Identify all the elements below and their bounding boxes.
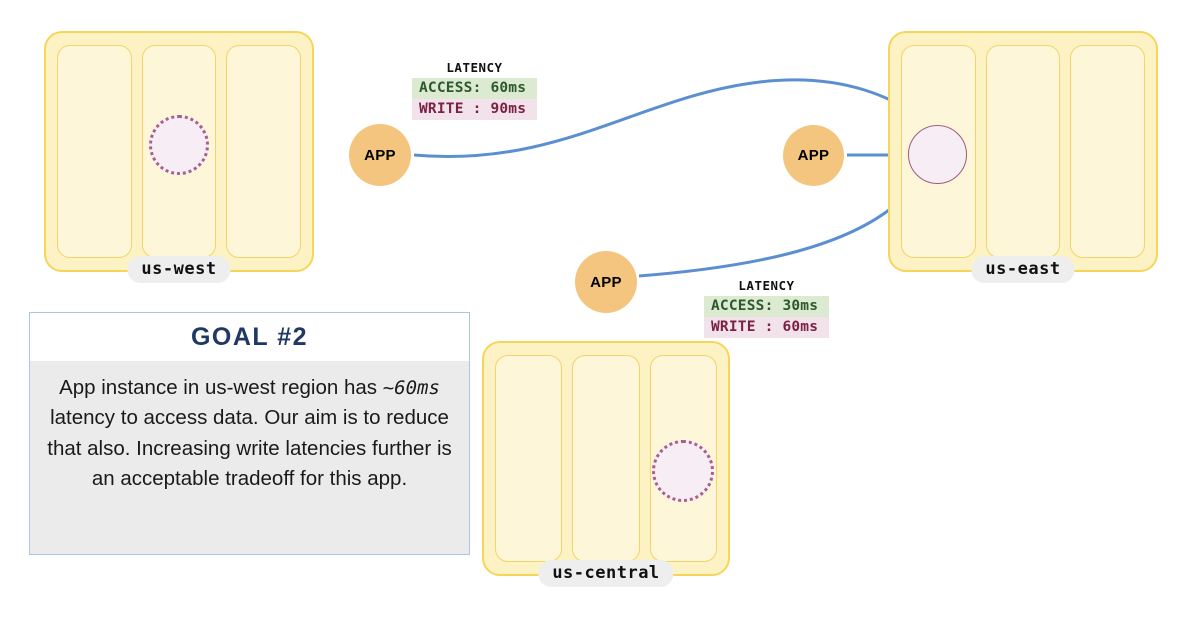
app-node-us-west-label: APP [364,147,396,164]
latency-box-us-central: LATENCY ACCESS: 30ms WRITE : 60ms [704,278,829,338]
region-us-west-column-1 [57,45,132,258]
region-us-central-column-1 [495,355,562,562]
region-us-east-column-3 [1070,45,1145,258]
data-replica-us-west[interactable] [149,115,209,175]
app-node-us-east[interactable]: APP [783,125,844,186]
region-us-west-column-2 [142,45,217,258]
latency-box-us-west: LATENCY ACCESS: 60ms WRITE : 90ms [412,60,537,120]
app-node-us-central-label: APP [590,274,622,291]
region-us-east-label: us-east [971,256,1074,283]
region-us-east-column-2 [986,45,1061,258]
region-us-west[interactable]: us-west [44,31,314,272]
app-node-us-west[interactable]: APP [349,124,411,186]
region-us-central-column-3 [650,355,717,562]
data-replica-us-central[interactable] [652,440,714,502]
goal-text-part2: latency to access data. Our aim is to re… [47,406,452,490]
latency-box-us-west-access: ACCESS: 60ms [412,78,537,99]
goal-card: GOAL #2 App instance in us-west region h… [29,312,470,555]
goal-text-emphasis: ~60ms [383,377,440,399]
goal-heading: GOAL #2 [30,313,469,361]
latency-box-us-central-title: LATENCY [704,278,829,293]
arrow-central-app-to-east-data [639,196,905,276]
app-node-us-central[interactable]: APP [575,251,637,313]
region-us-west-column-3 [226,45,301,258]
region-us-central[interactable]: us-central [482,341,730,576]
data-primary-us-east[interactable] [908,125,967,184]
region-us-central-column-2 [572,355,639,562]
latency-box-us-central-write: WRITE : 60ms [704,317,829,338]
latency-box-us-west-title: LATENCY [412,60,537,75]
region-us-west-label: us-west [127,256,230,283]
app-node-us-east-label: APP [798,147,830,164]
goal-text-part1: App instance in us-west region has [59,376,383,399]
region-us-central-label: us-central [538,560,673,587]
goal-body-text: App instance in us-west region has ~60ms… [30,361,469,554]
latency-box-us-west-write: WRITE : 90ms [412,99,537,120]
latency-box-us-central-access: ACCESS: 30ms [704,296,829,317]
